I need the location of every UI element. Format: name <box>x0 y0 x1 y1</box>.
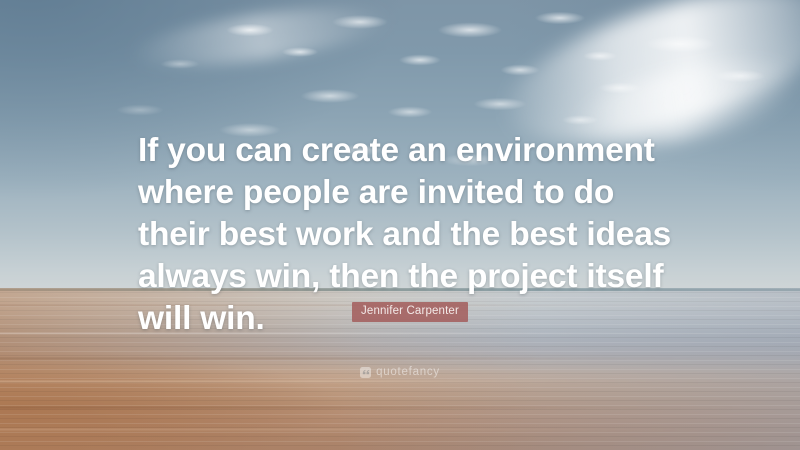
quote-author-badge: Jennifer Carpenter <box>352 302 468 322</box>
watermark: quotefancy <box>0 366 800 378</box>
watermark-brand: quotefancy <box>376 366 440 378</box>
quote-image: If you can create an environment where p… <box>0 0 800 450</box>
quote-mark-icon <box>360 367 371 378</box>
